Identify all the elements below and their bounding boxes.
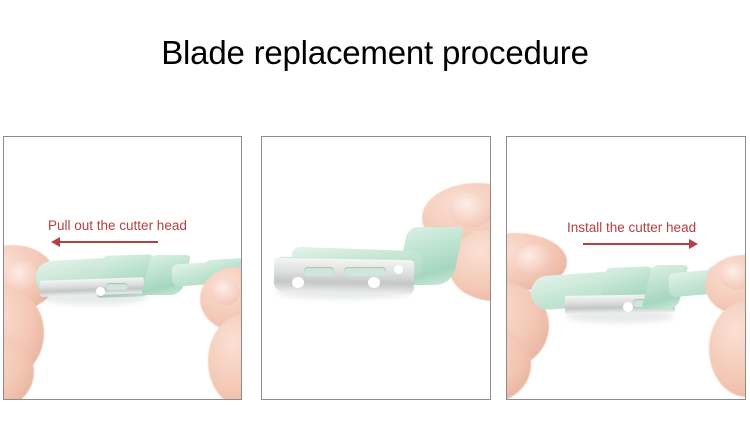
blade-notch	[96, 287, 105, 296]
panel-1-image: Pull out the cutter head	[4, 137, 241, 399]
page-title: Blade replacement procedure	[0, 36, 750, 69]
arrow-shaft	[57, 241, 158, 243]
panel-2-image	[262, 137, 490, 399]
panel-row: Pull out the cutter head	[0, 136, 750, 402]
step-panel-3: Install the cutter head	[506, 136, 746, 400]
step-panel-2	[261, 136, 491, 400]
blade-notch-2	[368, 277, 380, 288]
blade-slot	[106, 283, 128, 290]
blade-slot-2	[344, 267, 386, 276]
step-panel-1: Pull out the cutter head	[3, 136, 242, 400]
panel-3-arrow-right-icon	[583, 239, 698, 249]
blade-notch-1	[292, 277, 304, 288]
arrow-shaft	[583, 243, 692, 245]
panel-3-caption: Install the cutter head	[567, 221, 696, 235]
right-hand-finger	[208, 315, 241, 399]
blade-slot-1	[304, 267, 334, 276]
panel-3-image: Install the cutter head	[507, 137, 745, 399]
panel-1-caption: Pull out the cutter head	[48, 219, 187, 233]
blade-notch-3	[394, 265, 403, 274]
razor-blade-plate	[274, 258, 415, 294]
right-hand-finger	[709, 301, 745, 397]
blade-notch	[623, 302, 633, 312]
panel-1-arrow-left-icon	[51, 237, 158, 247]
